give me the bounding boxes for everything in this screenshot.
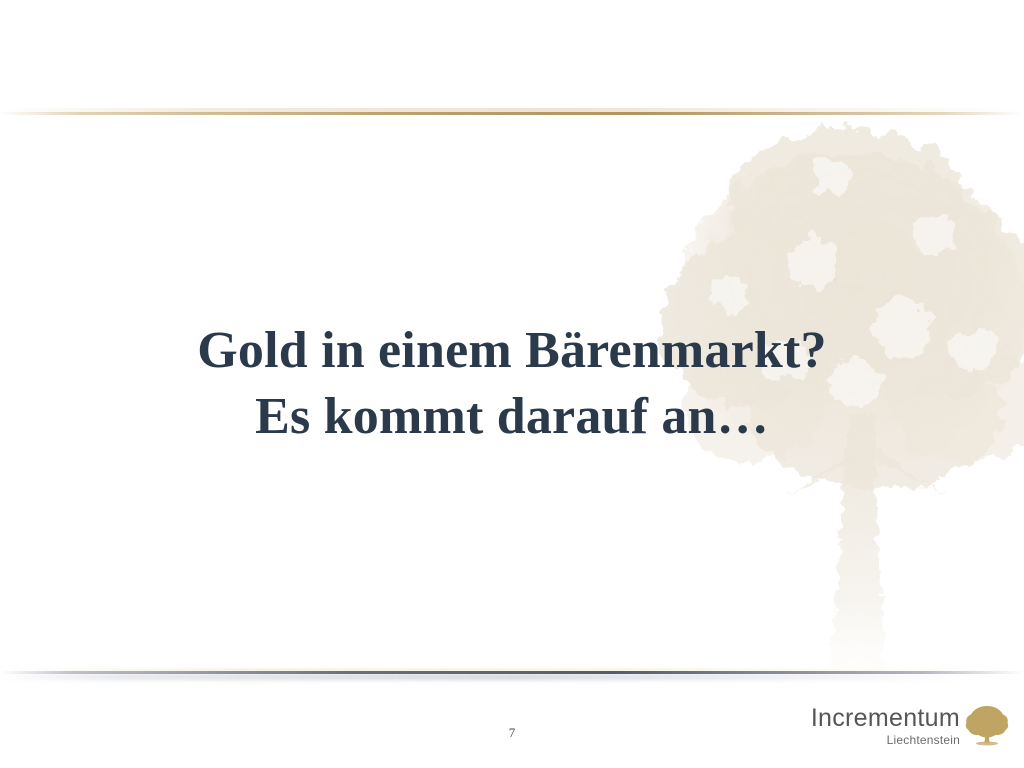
slide: Gold in einem Bärenmarkt? Es kommt darau… — [0, 0, 1024, 768]
bottom-rule — [0, 671, 1024, 674]
title-line-2: Es kommt darauf an… — [0, 384, 1024, 450]
title-line-1: Gold in einem Bärenmarkt? — [0, 318, 1024, 384]
bottom-rule-shadow — [0, 674, 1024, 680]
tree-logo-icon — [964, 704, 1010, 748]
logo-location: Liechtenstein — [887, 733, 960, 747]
top-rule — [0, 112, 1024, 115]
logo-company-name: Incrementum — [811, 705, 960, 732]
logo-wordmark: Incrementum Liechtenstein — [811, 705, 960, 747]
company-logo: Incrementum Liechtenstein — [811, 702, 1010, 750]
slide-title: Gold in einem Bärenmarkt? Es kommt darau… — [0, 318, 1024, 450]
